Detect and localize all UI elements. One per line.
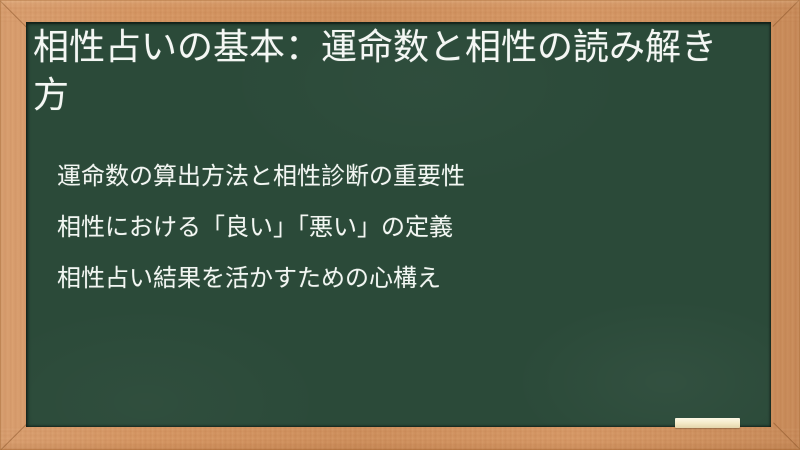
bullet-item-1: 運命数の算出方法と相性診断の重要性 xyxy=(57,151,747,202)
slide-bullet-list: 運命数の算出方法と相性診断の重要性 相性における「良い」「悪い」の定義 相性占い… xyxy=(57,151,747,304)
chalkboard-surface: 相性占いの基本：運命数と相性の読み解き方 運命数の算出方法と相性診断の重要性 相… xyxy=(26,22,771,427)
bullet-item-3: 相性占い結果を活かすための心構え xyxy=(57,253,747,304)
chalk-stick-icon xyxy=(675,418,740,428)
board-content: 相性占いの基本：運命数と相性の読み解き方 運命数の算出方法と相性診断の重要性 相… xyxy=(26,22,771,427)
slide-title: 相性占いの基本：運命数と相性の読み解き方 xyxy=(33,24,733,120)
chalkboard-slide: 相性占いの基本：運命数と相性の読み解き方 運命数の算出方法と相性診断の重要性 相… xyxy=(0,0,800,450)
bullet-item-2: 相性における「良い」「悪い」の定義 xyxy=(57,202,747,253)
